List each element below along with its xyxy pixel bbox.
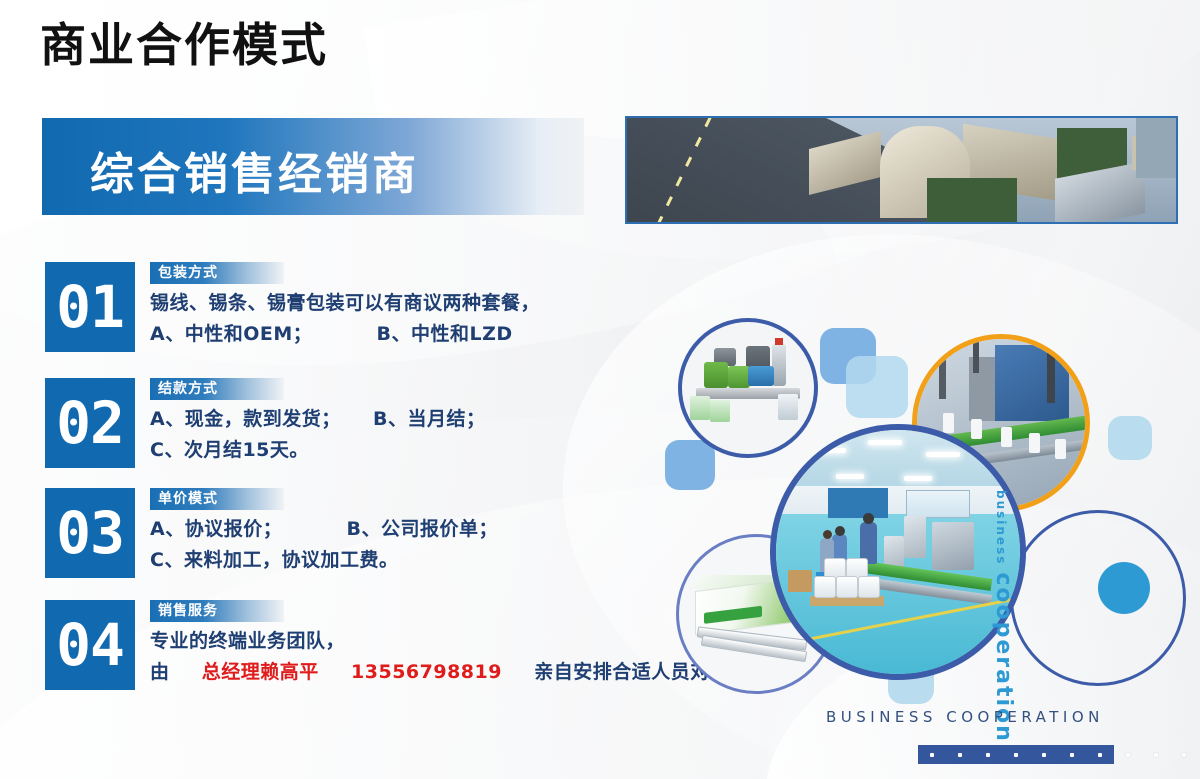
item-option-b: B、公司报价单； bbox=[346, 518, 497, 540]
photo-detail bbox=[748, 366, 774, 386]
decor-rounded-square bbox=[665, 440, 715, 490]
dot bbox=[1042, 753, 1046, 757]
photo-detail bbox=[858, 576, 880, 598]
item-number-badge: 03 bbox=[45, 488, 135, 578]
photo-detail bbox=[836, 576, 858, 598]
photo-detail bbox=[788, 570, 812, 592]
item-tag: 单价模式 bbox=[150, 488, 284, 510]
photo-detail bbox=[1047, 353, 1055, 403]
item-tag: 结款方式 bbox=[150, 378, 284, 400]
item-option-a: A、协议报价； bbox=[150, 518, 282, 540]
item-tag: 销售服务 bbox=[150, 600, 284, 622]
item-contact-line: 由 总经理赖高平 13556798819 亲自安排合适人员对接。 bbox=[150, 660, 749, 684]
dot bbox=[1126, 753, 1130, 757]
contact-prefix: 由 bbox=[150, 661, 170, 683]
photo-detail bbox=[904, 476, 932, 481]
dot bbox=[1014, 753, 1018, 757]
photo-detail bbox=[772, 344, 786, 386]
photo-detail bbox=[926, 452, 960, 457]
dot bbox=[930, 753, 934, 757]
page-title: 商业合作模式 bbox=[40, 22, 328, 68]
photo-detail bbox=[995, 345, 1069, 421]
photo-detail bbox=[710, 400, 730, 422]
poster-canvas: 商业合作模式 综合销售经销商 01 包装方式 锡线、锡条、锡膏包装可以有商议两种… bbox=[0, 0, 1200, 779]
item-number-badge: 01 bbox=[45, 262, 135, 352]
photo-detail bbox=[836, 474, 864, 479]
vertical-label: business cooperation bbox=[991, 490, 1016, 743]
footer-caption: BUSINESS COOPERATION bbox=[826, 708, 1104, 726]
item-body: 包装方式 锡线、锡条、锡膏包装可以有商议两种套餐， A、中性和OEM； B、中性… bbox=[150, 262, 540, 347]
photo-detail bbox=[728, 366, 750, 388]
item-body: 销售服务 专业的终端业务团队， 由 总经理赖高平 13556798819 亲自安… bbox=[150, 600, 749, 685]
photo-detail bbox=[704, 362, 728, 388]
item-body: 结款方式 A、现金，款到发货； B、当月结； C、次月结15天。 bbox=[150, 378, 485, 463]
campus-aerial-photo bbox=[625, 116, 1178, 224]
item-number-badge: 04 bbox=[45, 600, 135, 690]
subtitle-text: 综合销售经销商 bbox=[90, 138, 419, 202]
item-option-a: A、中性和OEM； bbox=[150, 323, 312, 345]
item-line: A、现金，款到发货； B、当月结； bbox=[150, 407, 485, 431]
photo-detail bbox=[868, 440, 902, 445]
decor-rounded-square bbox=[1108, 416, 1152, 460]
item-option-a: A、现金，款到发货； bbox=[150, 408, 341, 430]
contact-name: 总经理赖高平 bbox=[202, 661, 319, 683]
photo-detail bbox=[1029, 433, 1040, 453]
subtitle-banner: 综合销售经销商 bbox=[42, 118, 584, 215]
item-tag: 包装方式 bbox=[150, 262, 284, 284]
photo-detail bbox=[927, 178, 1017, 224]
item-line: C、来料加工，协议加工费。 bbox=[150, 548, 498, 572]
photo-detail bbox=[812, 448, 846, 453]
item-line: 专业的终端业务团队， bbox=[150, 629, 749, 653]
photo-detail bbox=[906, 490, 970, 518]
item-line: 锡线、锡条、锡膏包装可以有商议两种套餐， bbox=[150, 291, 540, 315]
photo-detail bbox=[973, 339, 979, 373]
footer-dot-bar bbox=[918, 745, 1200, 764]
item-line: A、协议报价； B、公司报价单； bbox=[150, 517, 498, 541]
photo-detail bbox=[690, 396, 710, 420]
item-option-b: B、中性和LZD bbox=[377, 323, 513, 345]
item-line: C、次月结15天。 bbox=[150, 438, 485, 462]
dot bbox=[986, 753, 990, 757]
dot bbox=[1070, 753, 1074, 757]
decor-circle-outline bbox=[1010, 510, 1186, 686]
item-body: 单价模式 A、协议报价； B、公司报价单； C、来料加工，协议加工费。 bbox=[150, 488, 498, 573]
decor-rounded-square bbox=[846, 356, 908, 418]
photo-detail bbox=[828, 488, 888, 518]
decor-circle-solid bbox=[1098, 562, 1150, 614]
item-line: A、中性和OEM； B、中性和LZD bbox=[150, 322, 540, 346]
item-option-b: B、当月结； bbox=[373, 408, 485, 430]
dot bbox=[1098, 753, 1102, 757]
photo-detail bbox=[932, 522, 974, 570]
dot bbox=[958, 753, 962, 757]
photo-detail bbox=[939, 343, 946, 399]
dot bbox=[1182, 753, 1186, 757]
photo-detail bbox=[1055, 439, 1066, 459]
photo-detail bbox=[778, 394, 798, 420]
vertical-label-small: business bbox=[994, 490, 1008, 565]
dot bbox=[1154, 753, 1158, 757]
photo-detail bbox=[1136, 118, 1176, 178]
dot-bar-segment-pale bbox=[1114, 745, 1200, 764]
dot-bar-segment-blue bbox=[918, 745, 1114, 764]
contact-phone[interactable]: 13556798819 bbox=[351, 661, 502, 683]
item-number-badge: 02 bbox=[45, 378, 135, 468]
photo-detail bbox=[904, 516, 926, 558]
factory-photo-circle bbox=[770, 424, 1026, 680]
photo-detail bbox=[814, 576, 836, 598]
